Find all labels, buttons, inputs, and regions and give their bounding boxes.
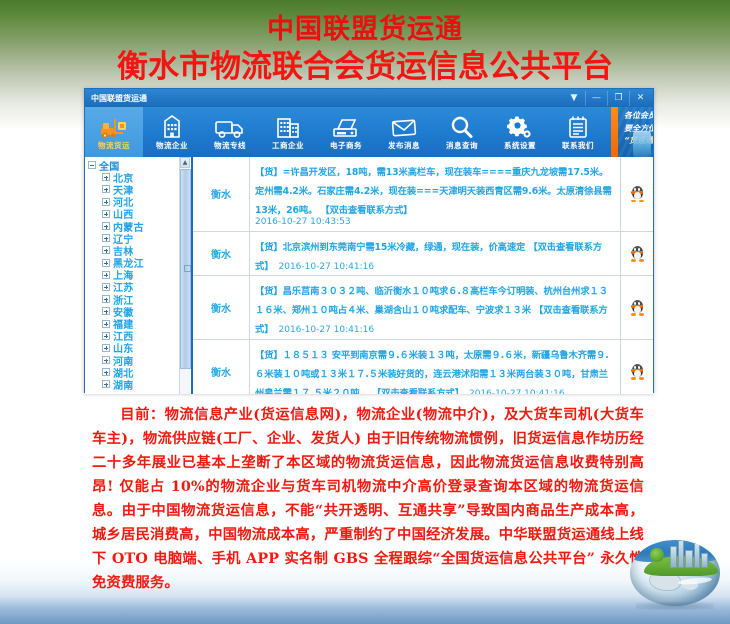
- row-message: 【货】=许昌开发区，18吨，需13米高栏车，现在装车====重庆九龙坡需17.5…: [255, 167, 612, 216]
- building-icon: [678, 540, 684, 568]
- page-title: 中国联盟货运通 衡水市物流联合会货运信息公共平台: [0, 14, 730, 86]
- toolbar-divider: [611, 107, 618, 157]
- truck-icon: [214, 113, 246, 139]
- sidebar-item-nationwide[interactable]: 全国: [88, 159, 191, 171]
- forklift-icon: [99, 113, 129, 139]
- sidebar-item-label: 湖南: [113, 377, 134, 392]
- expand-icon[interactable]: [102, 259, 110, 267]
- region-sidebar: 全国 北京 天津 河北 山西 内蒙古 辽宁 吉林 黑龙江 上海 江苏 浙江 安徽…: [85, 157, 193, 394]
- promo-decoration-icon: [633, 131, 651, 157]
- expand-icon[interactable]: [102, 295, 110, 303]
- toolbar-item-label: 工商企业: [272, 140, 304, 151]
- row-message-cell[interactable]: 【货】昌乐莒南３０３２吨、临沂衡水１０吨求６.８高栏车今订明装、杭州台州求１３１…: [250, 276, 620, 339]
- toolbar-item-label: 消息查询: [446, 140, 478, 151]
- building-icon: [694, 543, 700, 568]
- envelope-icon: [390, 113, 418, 139]
- app-window: 中国联盟货运通 ▼ — ❐ ✕ 物流货运: [84, 88, 654, 393]
- qq-icon: [631, 300, 644, 315]
- row-timestamp: 2016-10-27 10:41:16: [279, 262, 375, 272]
- expand-icon[interactable]: [102, 173, 110, 181]
- row-contact-button[interactable]: [620, 157, 653, 231]
- dropdown-icon[interactable]: ▼: [563, 91, 585, 106]
- building-icon: [670, 546, 677, 568]
- sidebar-item-region[interactable]: 河南: [88, 354, 191, 366]
- promo-line-1: 各位会员: [624, 110, 653, 123]
- globe-sphere: [630, 540, 720, 606]
- expand-icon[interactable]: [102, 344, 110, 352]
- sidebar-scrollbar[interactable]: ▲: [179, 157, 190, 394]
- sidebar-item-region[interactable]: 北京: [88, 171, 191, 183]
- row-timestamp: 2016-10-27 10:41:16: [469, 389, 565, 394]
- promotional-note: 目前：物流信息产业(货运信息网)，物流企业(物流中介)，及大货车司机(大货车车主…: [92, 403, 644, 595]
- expand-icon[interactable]: [102, 307, 110, 315]
- table-row[interactable]: 衡水 【货】北京滨州到东莞南宁需15米冷藏，绿通，现在装，价高速定 【双击查看联…: [193, 232, 653, 277]
- expand-icon[interactable]: [102, 320, 110, 328]
- headline-line-2: 衡水市物流联合会货运信息公共平台: [0, 48, 730, 86]
- expand-icon[interactable]: [102, 198, 110, 206]
- building-icon: [159, 113, 185, 139]
- globe-illustration: [624, 516, 726, 608]
- row-contact-button[interactable]: [620, 276, 653, 339]
- table-row[interactable]: 衡水 【货】=许昌开发区，18吨，需13米高栏车，现在装车====重庆九龙坡需1…: [193, 157, 653, 232]
- sidebar-item-region[interactable]: 辽宁: [88, 232, 191, 244]
- toolbar-item-label: 物流货运: [98, 140, 130, 151]
- window-body: 全国 北京 天津 河北 山西 内蒙古 辽宁 吉林 黑龙江 上海 江苏 浙江 安徽…: [85, 157, 653, 394]
- row-city: 衡水: [193, 157, 250, 231]
- qq-icon: [631, 246, 644, 261]
- building-icon: [685, 550, 693, 568]
- collapse-icon[interactable]: [88, 161, 96, 169]
- toolbar-item-label: 系统设置: [504, 140, 536, 151]
- toolbar-item-logistics-company[interactable]: 物流企业: [143, 107, 201, 157]
- search-icon: [449, 113, 475, 139]
- window-title: 中国联盟货运通: [91, 93, 147, 104]
- promo-banner[interactable]: 各位会员 要全方位测试 “货运通”功能！: [618, 107, 653, 157]
- headline-line-1: 中国联盟货运通: [0, 14, 730, 46]
- toolbar-item-message-query[interactable]: 消息查询: [433, 107, 491, 157]
- toolbar-item-label: 电子商务: [330, 140, 362, 151]
- ecommerce-icon: [331, 113, 361, 139]
- sidebar-item-region[interactable]: 湖南: [88, 378, 191, 390]
- row-city: 衡水: [193, 340, 250, 394]
- freight-message-table: 衡水 【货】=许昌开发区，18吨，需13米高栏车，现在装车====重庆九龙坡需1…: [193, 157, 653, 394]
- building-icon: [701, 553, 708, 568]
- toolbar-item-contact-us[interactable]: 联系我们: [549, 107, 607, 157]
- sidebar-item-region[interactable]: 河北: [88, 196, 191, 208]
- globe-shadow: [636, 602, 714, 610]
- row-city: 衡水: [193, 232, 250, 276]
- expand-icon[interactable]: [102, 368, 110, 376]
- tree-icon: [650, 548, 664, 562]
- toolbar-item-label: 物流企业: [156, 140, 188, 151]
- notepad-icon: [565, 113, 591, 139]
- row-message-cell[interactable]: 【货】=许昌开发区，18吨，需13米高栏车，现在装车====重庆九龙坡需17.5…: [250, 157, 620, 231]
- sidebar-item-region[interactable]: 上海: [88, 269, 191, 281]
- sidebar-item-region[interactable]: 福建: [88, 317, 191, 329]
- row-message-cell[interactable]: 【货】１８５１３ 安平到南京需９.６米装１３吨，太原需９.６米，新疆乌鲁木齐需９…: [250, 340, 620, 394]
- table-row[interactable]: 衡水 【货】１８５１３ 安平到南京需９.６米装１３吨，太原需９.６米，新疆乌鲁木…: [193, 340, 653, 394]
- expand-icon[interactable]: [102, 271, 110, 279]
- row-city: 衡水: [193, 276, 250, 339]
- row-timestamp: 2016-10-27 10:41:16: [279, 325, 375, 335]
- row-message: 【货】１８５１３ 安平到南京需９.６米装１３吨，太原需９.６米，新疆乌鲁木齐需９…: [255, 350, 609, 394]
- sidebar-item-region[interactable]: 山东: [88, 342, 191, 354]
- expand-icon[interactable]: [102, 234, 110, 242]
- sidebar-item-region[interactable]: 江西: [88, 330, 191, 342]
- minimize-button[interactable]: —: [585, 91, 607, 106]
- expand-icon[interactable]: [102, 222, 110, 230]
- toolbar-item-system-settings[interactable]: 系统设置: [491, 107, 549, 157]
- office-icon: [274, 113, 302, 139]
- city-skyline: [670, 540, 710, 568]
- sidebar-item-region[interactable]: 安徽: [88, 305, 191, 317]
- toolbar-item-logistics-line[interactable]: 物流专线: [201, 107, 259, 157]
- sidebar-item-region[interactable]: 江苏: [88, 281, 191, 293]
- table-row[interactable]: 衡水 【货】昌乐莒南３０３２吨、临沂衡水１０吨求６.８高栏车今订明装、杭州台州求…: [193, 276, 653, 340]
- qq-icon: [631, 364, 644, 379]
- row-contact-button[interactable]: [620, 340, 653, 394]
- sidebar-item-region[interactable]: 黑龙江: [88, 257, 191, 269]
- sidebar-item-region[interactable]: 浙江: [88, 293, 191, 305]
- row-message-cell[interactable]: 【货】北京滨州到东莞南宁需15米冷藏，绿通，现在装，价高速定 【双击查看联系方式…: [250, 232, 620, 276]
- toolbar-item-ecommerce[interactable]: 电子商务: [317, 107, 375, 157]
- window-titlebar: 中国联盟货运通 ▼ — ❐ ✕: [85, 89, 653, 107]
- main-toolbar: 物流货运 物流企业: [85, 107, 653, 157]
- scroll-up-icon[interactable]: ▲: [180, 157, 190, 168]
- sidebar-item-region[interactable]: 湖北: [88, 366, 191, 378]
- row-timestamp: 2016-10-27 10:43:53: [255, 217, 616, 229]
- scrollbar-thumb[interactable]: [180, 169, 191, 369]
- gear-icon: [506, 113, 534, 139]
- expand-icon[interactable]: [102, 380, 110, 388]
- toolbar-item-label: 物流专线: [214, 140, 246, 151]
- toolbar-item-label: 发布消息: [388, 140, 420, 151]
- expand-icon[interactable]: [102, 283, 110, 291]
- maximize-button[interactable]: ❐: [607, 91, 629, 106]
- region-tree: 全国 北京 天津 河北 山西 内蒙古 辽宁 吉林 黑龙江 上海 江苏 浙江 安徽…: [85, 157, 191, 391]
- row-contact-button[interactable]: [620, 232, 653, 276]
- expand-icon[interactable]: [102, 210, 110, 218]
- sidebar-item-region[interactable]: 内蒙古: [88, 220, 191, 232]
- expand-icon[interactable]: [102, 185, 110, 193]
- qq-icon: [631, 186, 644, 201]
- toolbar-item-label: 联系我们: [562, 140, 594, 151]
- toolbar-item-industrial-company[interactable]: 工商企业: [259, 107, 317, 157]
- toolbar-item-logistics-freight[interactable]: 物流货运: [85, 107, 143, 157]
- expand-icon[interactable]: [102, 356, 110, 364]
- toolbar-item-publish-message[interactable]: 发布消息: [375, 107, 433, 157]
- expand-icon[interactable]: [102, 246, 110, 254]
- expand-icon[interactable]: [102, 332, 110, 340]
- close-button[interactable]: ✕: [629, 91, 651, 106]
- note-text: 目前：物流信息产业(货运信息网)，物流企业(物流中介)，及大货车司机(大货车车主…: [92, 407, 644, 591]
- sidebar-item-region[interactable]: 天津: [88, 183, 191, 195]
